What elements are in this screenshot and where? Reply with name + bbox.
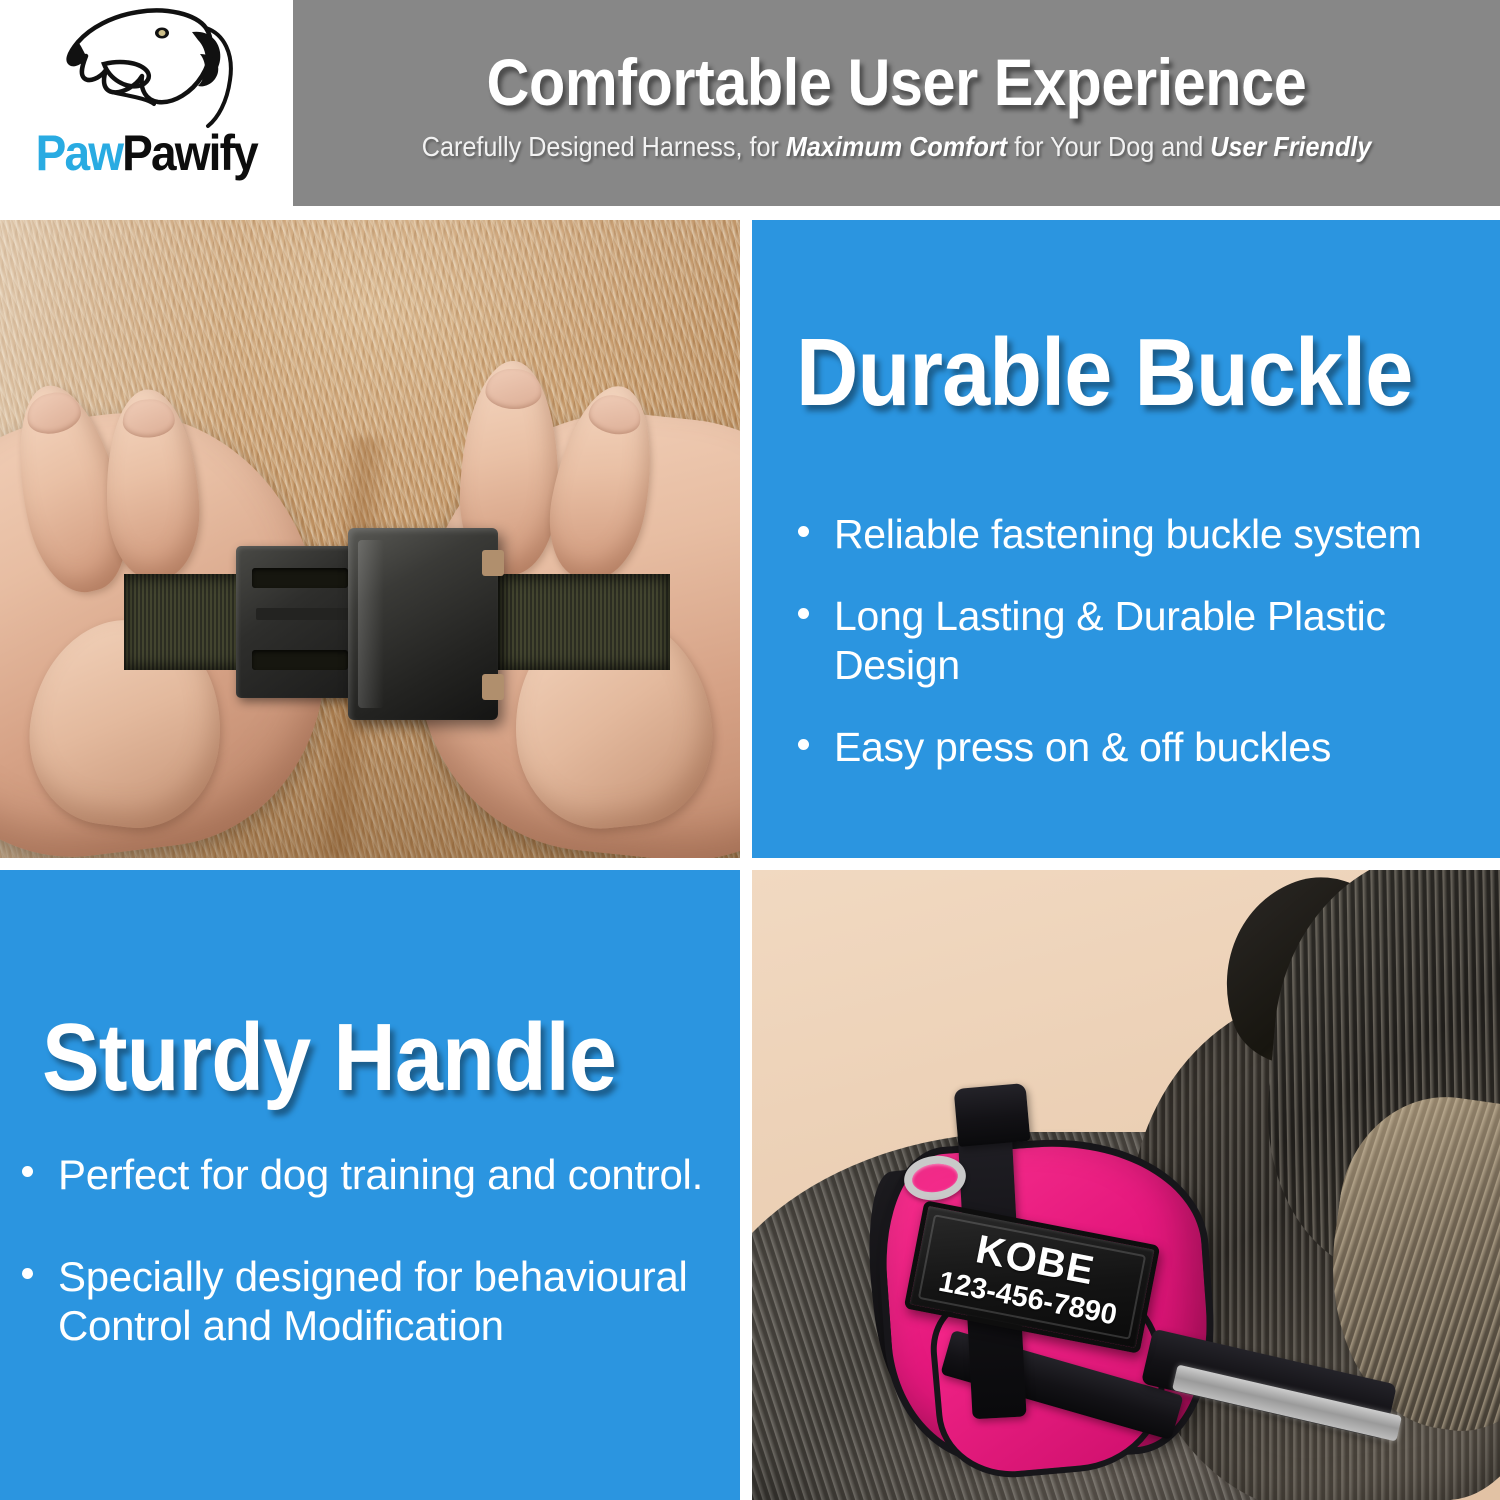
bullet-icon [22, 1166, 33, 1177]
buckle-slot [252, 650, 348, 670]
buckle-photo-panel [0, 220, 740, 858]
dog-harness-photo-panel: KOBE 123-456-7890 [752, 870, 1500, 1500]
list-item-label: Easy press on & off buckles [834, 724, 1331, 770]
list-item: Reliable fastening buckle system [794, 510, 1474, 558]
fingernail [586, 391, 644, 438]
buckle-prong [256, 608, 360, 620]
infographic-page: PawPawify Comfortable User Experience Ca… [0, 0, 1500, 1500]
page-title: Comfortable User Experience [487, 49, 1307, 116]
list-item: Perfect for dog training and control. [18, 1150, 718, 1200]
list-item: Long Lasting & Durable Plastic Design [794, 592, 1474, 689]
sturdy-handle-title: Sturdy Handle [42, 1010, 616, 1106]
subtitle-text-2: for Your Dog and [1007, 131, 1210, 162]
buckle-notch [482, 550, 504, 576]
bullet-icon [22, 1268, 33, 1279]
list-item: Easy press on & off buckles [794, 723, 1474, 771]
list-item-label: Specially designed for behavioural Contr… [58, 1253, 688, 1350]
fingernail [122, 398, 176, 439]
webbing-strap-right [498, 574, 670, 670]
buckle-notch [482, 674, 504, 700]
subtitle-emphasis-2: User Friendly [1210, 131, 1371, 162]
dog-head-icon [42, 4, 252, 134]
bullet-icon [798, 739, 809, 750]
durable-buckle-title: Durable Buckle [796, 325, 1412, 421]
sturdy-handle-bullet-list: Perfect for dog training and control. Sp… [18, 1150, 718, 1403]
dog-fur-photo [0, 220, 740, 858]
list-item-label: Reliable fastening buckle system [834, 511, 1421, 557]
brand-name-part2: Pawify [122, 125, 257, 181]
header-banner: Comfortable User Experience Carefully De… [293, 0, 1500, 206]
brand-wordmark: PawPawify [36, 128, 257, 178]
subtitle-text-1: Carefully Designed Harness, for [422, 131, 786, 162]
dog-wearing-harness-photo: KOBE 123-456-7890 [752, 870, 1500, 1500]
brand-name-part1: Paw [36, 125, 123, 181]
list-item: Specially designed for behavioural Contr… [18, 1252, 718, 1351]
buckle-female-half [348, 528, 498, 720]
buckle-highlight [358, 540, 384, 708]
harness-top-handle [954, 1083, 1031, 1147]
durable-buckle-panel: Durable Buckle Reliable fastening buckle… [752, 220, 1500, 858]
sturdy-handle-panel: Sturdy Handle Perfect for dog training a… [0, 870, 740, 1500]
list-item-label: Perfect for dog training and control. [58, 1151, 703, 1198]
side-release-buckle [236, 520, 548, 730]
bullet-icon [798, 608, 809, 619]
durable-buckle-bullet-list: Reliable fastening buckle system Long La… [794, 510, 1474, 806]
fingernail [485, 368, 542, 410]
buckle-slot [252, 568, 348, 588]
page-subtitle: Carefully Designed Harness, for Maximum … [422, 132, 1372, 163]
subtitle-emphasis-1: Maximum Comfort [786, 131, 1007, 162]
brand-logo: PawPawify [0, 0, 293, 206]
bullet-icon [798, 526, 809, 537]
page-header: PawPawify Comfortable User Experience Ca… [0, 0, 1500, 206]
list-item-label: Long Lasting & Durable Plastic Design [834, 593, 1386, 687]
